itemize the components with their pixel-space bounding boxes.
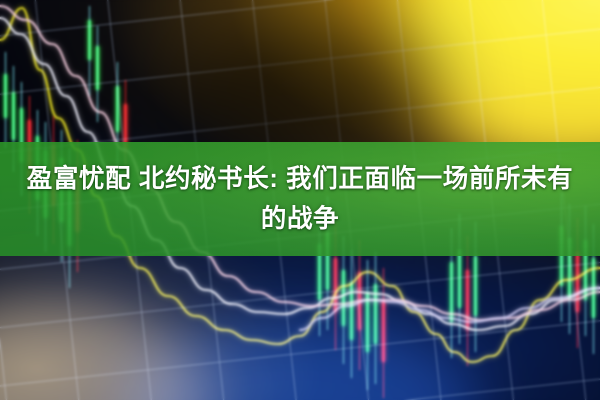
headline-line-2: 的战争 — [261, 200, 339, 238]
thumbnail-image: 盈富忧配 北约秘书长: 我们正面临一场前所未有 的战争 — [0, 0, 600, 400]
headline-text-block: 盈富忧配 北约秘书长: 我们正面临一场前所未有 的战争 — [0, 142, 600, 256]
headline-line-1: 盈富忧配 北约秘书长: 我们正面临一场前所未有 — [27, 160, 573, 198]
